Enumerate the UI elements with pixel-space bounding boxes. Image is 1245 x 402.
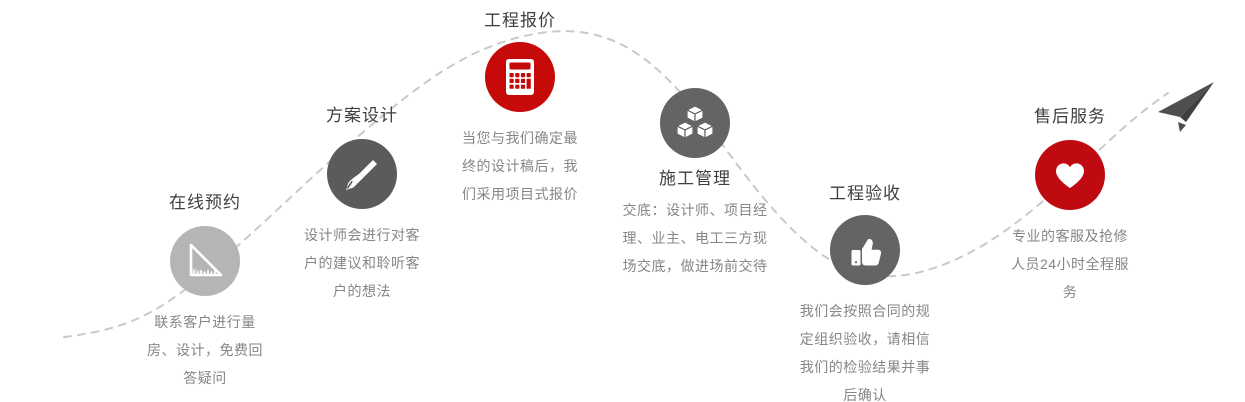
- desc-line: 终的设计稿后，我: [440, 152, 600, 180]
- step-1-title: 在线预约: [125, 192, 285, 214]
- process-flow-diagram: 在线预约 联系客户进行量 房、设计，免费回 答疑问: [0, 0, 1245, 402]
- stacked-cubes-icon: [673, 101, 717, 145]
- step-3-description: 当您与我们确定最 终的设计稿后，我 们采用项目式报价: [440, 124, 600, 208]
- step-4: 施工管理 交底：设计师、项目经 理、业主、电工三方现 场交底，做进场前交待: [605, 88, 785, 280]
- step-6-title: 售后服务: [990, 106, 1150, 128]
- step-2-description: 设计师会进行对客 户的建议和聆听客 户的想法: [282, 221, 442, 305]
- desc-line: 户的想法: [282, 277, 442, 305]
- desc-line: 设计师会进行对客: [282, 221, 442, 249]
- step-4-description: 交底：设计师、项目经 理、业主、电工三方现 场交底，做进场前交待: [605, 196, 785, 280]
- desc-line: 我们会按照合同的规: [785, 297, 945, 325]
- step-6: 售后服务 专业的客服及抢修 人员24小时全程服 务: [990, 106, 1150, 306]
- desc-line: 理、业主、电工三方现: [605, 224, 785, 252]
- step-2-icon-circle[interactable]: [327, 139, 397, 209]
- desc-line: 们采用项目式报价: [440, 180, 600, 208]
- desc-line: 后确认: [785, 381, 945, 402]
- step-6-icon-circle[interactable]: [1035, 140, 1105, 210]
- step-1: 在线预约 联系客户进行量 房、设计，免费回 答疑问: [125, 192, 285, 392]
- desc-line: 户的建议和聆听客: [282, 249, 442, 277]
- desc-line: 专业的客服及抢修: [990, 222, 1150, 250]
- desc-line: 定组织验收，请相信: [785, 325, 945, 353]
- step-3-title: 工程报价: [440, 10, 600, 32]
- step-3: 工程报价: [440, 10, 600, 208]
- step-1-description: 联系客户进行量 房、设计，免费回 答疑问: [125, 308, 285, 392]
- desc-line: 答疑问: [125, 364, 285, 392]
- step-1-icon-circle[interactable]: [170, 226, 240, 296]
- step-4-icon-circle[interactable]: [660, 88, 730, 158]
- step-4-title: 施工管理: [605, 168, 785, 190]
- step-6-description: 专业的客服及抢修 人员24小时全程服 务: [990, 222, 1150, 306]
- step-5: 工程验收 我们会按照合同的规 定组织验收，请相信 我们的检验结果并事 后确认: [785, 183, 945, 402]
- step-2: 方案设计 设计师会进行对客 户的建议和聆听客 户的想法: [282, 105, 442, 305]
- desc-line: 我们的检验结果并事: [785, 353, 945, 381]
- desc-line: 联系客户进行量: [125, 308, 285, 336]
- step-2-title: 方案设计: [282, 105, 442, 127]
- step-5-description: 我们会按照合同的规 定组织验收，请相信 我们的检验结果并事 后确认: [785, 297, 945, 402]
- desc-line: 人员24小时全程服: [990, 250, 1150, 278]
- desc-line: 务: [990, 278, 1150, 306]
- desc-line: 当您与我们确定最: [440, 124, 600, 152]
- step-5-icon-circle[interactable]: [830, 215, 900, 285]
- desc-line: 房、设计，免费回: [125, 336, 285, 364]
- desc-line: 场交底，做进场前交待: [605, 252, 785, 280]
- fountain-pen-icon: [341, 153, 383, 195]
- ruler-triangle-icon: [183, 239, 227, 283]
- step-3-icon-circle[interactable]: [485, 42, 555, 112]
- desc-line: 交底：设计师、项目经: [605, 196, 785, 224]
- heart-icon: [1050, 155, 1090, 195]
- step-5-title: 工程验收: [785, 183, 945, 205]
- paper-plane-end-marker: [1152, 78, 1244, 148]
- paper-plane-icon: [1152, 78, 1244, 148]
- thumbs-up-icon: [844, 229, 886, 271]
- calculator-icon: [500, 55, 540, 99]
